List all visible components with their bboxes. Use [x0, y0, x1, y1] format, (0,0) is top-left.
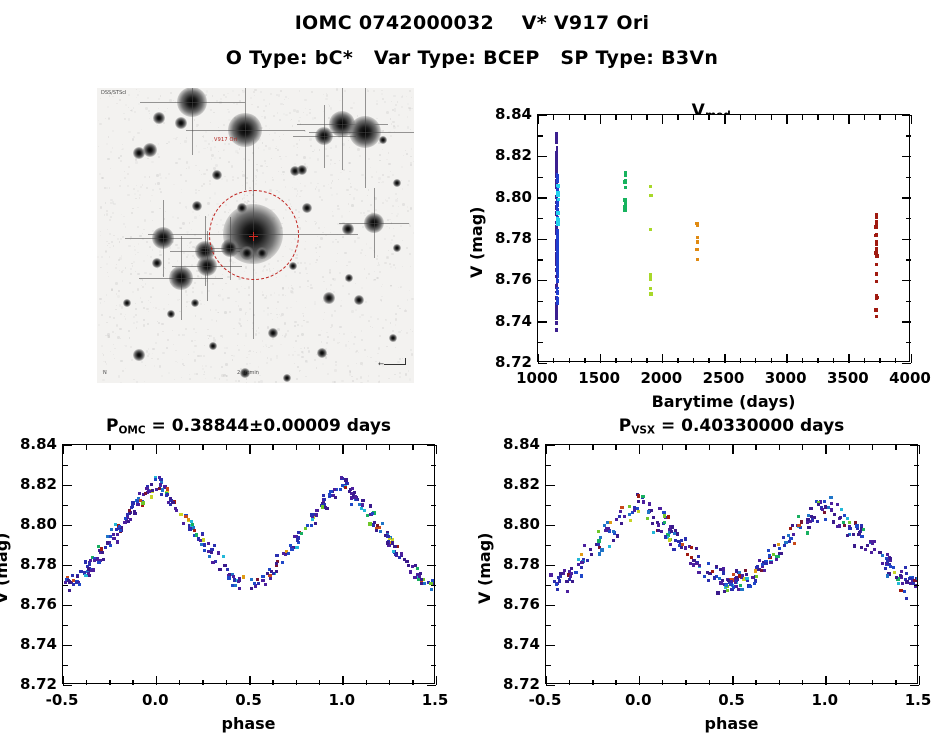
sky-noise — [304, 99, 306, 101]
sky-noise — [361, 200, 363, 202]
x-minor-tick — [132, 680, 133, 685]
sky-noise — [325, 148, 327, 150]
data-point — [908, 577, 911, 580]
sky-noise — [131, 359, 133, 361]
sky-noise — [367, 90, 369, 92]
data-points-layer — [63, 445, 434, 683]
sky-noise — [304, 185, 305, 186]
scalebar-tick — [405, 358, 406, 365]
sky-noise — [297, 366, 299, 368]
sky-noise — [326, 155, 328, 157]
data-point — [568, 578, 571, 581]
sky-noise — [182, 363, 184, 365]
sky-noise — [226, 379, 228, 381]
sky-noise — [146, 187, 148, 189]
sky-noise — [359, 155, 361, 157]
x-tick — [732, 676, 734, 685]
sky-noise — [186, 256, 188, 258]
y-tick — [546, 525, 555, 527]
sky-noise — [100, 231, 101, 232]
field-star — [133, 349, 145, 361]
sky-noise — [376, 258, 378, 260]
sky-noise — [141, 361, 143, 363]
sky-noise — [378, 347, 380, 349]
sky-noise — [195, 332, 197, 334]
sky-noise — [249, 308, 251, 310]
sky-noise — [115, 282, 117, 284]
sky-noise — [122, 280, 124, 282]
sky-noise — [254, 381, 256, 383]
sky-noise — [369, 247, 371, 249]
data-point — [782, 536, 785, 539]
sky-noise — [330, 187, 332, 189]
x-minor-tick — [872, 445, 873, 450]
sky-noise — [337, 205, 339, 207]
data-point — [737, 588, 740, 591]
sky-noise — [297, 179, 298, 180]
sky-noise — [198, 151, 200, 153]
data-point — [789, 527, 792, 530]
y-axis-label: V (mag) — [467, 207, 486, 279]
data-point — [722, 567, 725, 570]
field-star — [389, 334, 397, 342]
sky-noise — [149, 246, 151, 248]
sky-noise — [147, 323, 149, 325]
sky-noise — [175, 138, 176, 139]
sky-noise — [379, 380, 380, 381]
sky-noise — [245, 313, 247, 315]
sky-noise — [224, 352, 226, 354]
y-tick-label: 8.84 — [495, 435, 540, 453]
x-tick-label: 0.0 — [115, 691, 195, 709]
sky-noise — [216, 203, 218, 205]
sky-noise — [390, 171, 391, 172]
sky-noise — [98, 120, 99, 121]
data-point — [160, 493, 163, 496]
sky-noise — [118, 157, 119, 158]
data-point — [838, 524, 841, 527]
sky-noise — [200, 318, 202, 320]
scalebar-bar — [384, 364, 406, 365]
sky-noise — [350, 186, 353, 189]
sky-noise — [295, 209, 297, 211]
sky-noise — [282, 335, 283, 336]
data-point — [293, 535, 296, 538]
sky-noise — [395, 193, 397, 195]
sky-noise — [319, 246, 321, 248]
sky-noise — [110, 202, 112, 204]
data-point — [87, 567, 90, 570]
y-tick-label: 8.82 — [495, 475, 540, 493]
x-minor-tick — [755, 680, 756, 685]
sky-noise — [332, 215, 334, 217]
data-point — [234, 584, 237, 587]
data-point — [899, 589, 902, 592]
sky-noise — [110, 351, 111, 352]
sky-noise — [143, 307, 145, 309]
x-tick — [919, 445, 921, 454]
data-point — [848, 527, 851, 530]
sky-noise — [293, 176, 295, 178]
sky-noise — [370, 326, 371, 327]
data-point — [420, 578, 423, 581]
sky-noise — [410, 129, 411, 130]
sky-noise — [258, 147, 260, 149]
sky-noise — [175, 162, 177, 164]
sky-noise — [386, 159, 388, 161]
sky-noise — [314, 301, 316, 303]
y-tick — [538, 239, 547, 241]
data-point — [649, 277, 653, 281]
y-tick — [427, 605, 436, 607]
sky-noise — [320, 237, 322, 239]
sky-noise — [270, 358, 272, 360]
sky-noise — [301, 325, 303, 327]
sky-noise — [411, 298, 413, 300]
sky-noise — [340, 172, 342, 174]
sky-noise — [270, 93, 272, 95]
sky-noise — [353, 197, 355, 199]
x-minor-tick — [779, 445, 780, 450]
sky-noise — [328, 184, 329, 185]
sky-noise — [106, 263, 108, 265]
data-point — [874, 308, 878, 312]
sky-noise — [405, 150, 406, 151]
sky-noise — [378, 264, 380, 266]
y-tick-label: 8.76 — [495, 595, 540, 613]
sky-noise — [109, 247, 111, 249]
data-point — [677, 540, 680, 543]
x-tick — [911, 354, 913, 363]
sky-noise — [410, 266, 411, 267]
sky-noise — [183, 252, 185, 254]
sky-noise — [110, 199, 112, 201]
data-point — [386, 541, 389, 544]
data-point — [76, 575, 79, 578]
sky-noise — [406, 153, 408, 155]
data-point — [210, 551, 213, 554]
sky-noise — [224, 347, 226, 349]
data-point — [597, 543, 600, 546]
data-point — [261, 579, 264, 582]
sky-noise — [297, 262, 299, 264]
sky-noise — [292, 354, 295, 357]
sky-noise — [379, 335, 381, 337]
sky-noise — [116, 103, 117, 104]
sky-noise — [194, 345, 196, 347]
data-point — [257, 582, 260, 585]
sky-noise — [293, 145, 295, 147]
data-point — [394, 553, 397, 556]
data-point — [366, 514, 369, 517]
data-point — [684, 537, 687, 540]
x-minor-tick — [709, 680, 710, 685]
sky-noise — [368, 189, 369, 190]
sky-noise — [326, 93, 327, 94]
sky-noise — [405, 373, 408, 376]
y-minor-tick — [546, 665, 551, 666]
x-minor-tick — [693, 115, 694, 120]
y-tick — [538, 363, 547, 365]
y-tick — [546, 605, 555, 607]
sky-noise — [181, 192, 182, 193]
sky-noise — [163, 122, 165, 124]
data-point — [875, 272, 879, 276]
x-tick-label: 1.0 — [302, 691, 382, 709]
sky-noise — [196, 145, 197, 146]
data-point — [674, 529, 677, 532]
sky-noise — [330, 289, 331, 290]
sky-noise — [398, 114, 400, 116]
sky-noise — [305, 307, 307, 309]
sky-noise — [268, 347, 269, 348]
data-point — [354, 495, 357, 498]
sky-noise — [175, 350, 176, 351]
sky-noise — [300, 190, 302, 192]
data-point — [104, 546, 107, 549]
sky-noise — [318, 189, 320, 191]
sky-noise — [214, 192, 216, 194]
y-minor-tick — [63, 665, 68, 666]
sky-noise — [265, 344, 267, 346]
data-point — [187, 518, 190, 521]
sky-noise — [136, 97, 137, 98]
sky-noise — [143, 260, 145, 262]
sky-noise — [375, 209, 377, 211]
sky-noise — [280, 103, 282, 105]
sky-noise — [237, 333, 239, 335]
data-point — [556, 254, 559, 257]
x-tick — [538, 115, 540, 124]
sky-noise — [283, 104, 284, 105]
sky-noise — [407, 103, 409, 105]
sky-noise — [138, 243, 139, 244]
sky-noise — [136, 89, 137, 90]
sky-noise — [166, 143, 167, 144]
sky-noise — [246, 182, 248, 184]
sky-noise — [295, 257, 298, 260]
data-point — [807, 526, 810, 529]
sky-noise — [353, 102, 355, 104]
y-tick — [546, 565, 555, 567]
sky-noise — [325, 235, 326, 236]
data-point — [649, 194, 653, 198]
sky-noise — [289, 112, 291, 114]
sky-noise — [276, 146, 277, 147]
data-point — [612, 530, 615, 533]
x-minor-tick — [802, 115, 803, 120]
data-point — [657, 523, 660, 526]
sky-noise — [312, 151, 313, 152]
sky-noise — [125, 345, 127, 347]
data-point — [217, 551, 220, 554]
data-point — [727, 579, 730, 582]
y-tick — [427, 645, 436, 647]
sky-noise — [257, 171, 258, 172]
sky-noise — [305, 267, 307, 269]
data-point — [649, 287, 653, 291]
data-point — [839, 516, 842, 519]
data-point — [672, 548, 675, 551]
sky-noise — [342, 143, 344, 145]
data-point — [755, 575, 758, 578]
sky-noise — [224, 176, 225, 177]
sky-noise — [284, 336, 286, 338]
sky-noise — [402, 203, 404, 205]
data-point — [637, 494, 640, 497]
sky-noise — [139, 91, 140, 92]
sky-noise — [208, 290, 210, 292]
data-point — [718, 577, 721, 580]
sky-noise — [280, 139, 281, 140]
sky-noise — [288, 199, 290, 201]
sky-noise — [194, 282, 196, 284]
sky-noise — [348, 293, 350, 295]
sky-noise — [377, 353, 379, 355]
data-point — [719, 568, 722, 571]
sky-noise — [209, 180, 211, 182]
sky-noise — [333, 137, 335, 139]
sky-noise — [349, 194, 351, 196]
y-tick — [427, 525, 436, 527]
sky-noise — [109, 219, 111, 221]
sky-noise — [316, 252, 317, 253]
sky-noise — [264, 116, 266, 118]
sky-noise — [183, 334, 185, 336]
sky-noise — [186, 161, 188, 163]
data-point — [350, 503, 353, 506]
data-point — [138, 492, 141, 495]
data-point — [875, 223, 879, 227]
sky-noise — [122, 370, 125, 373]
sky-noise — [133, 316, 135, 318]
sky-noise — [317, 158, 319, 160]
sky-noise — [246, 177, 248, 179]
x-minor-tick — [740, 115, 741, 120]
sky-noise — [411, 148, 412, 149]
sky-noise — [360, 212, 361, 213]
sky-noise — [406, 247, 408, 249]
x-tick — [919, 676, 921, 685]
x-minor-tick — [179, 445, 180, 450]
x-minor-tick — [553, 358, 554, 363]
x-tick — [600, 115, 602, 124]
sky-noise — [306, 114, 308, 116]
sky-noise — [122, 270, 124, 272]
sky-noise — [152, 353, 154, 355]
y-tick-label: 8.76 — [487, 270, 532, 288]
sky-noise — [332, 278, 334, 280]
sky-noise — [350, 183, 352, 185]
sky-noise — [197, 355, 200, 358]
sky-noise — [116, 264, 117, 265]
data-point — [144, 492, 147, 495]
data-point — [703, 575, 706, 578]
sky-noise — [121, 306, 124, 309]
sky-noise — [376, 100, 378, 102]
sky-noise — [189, 242, 191, 244]
sky-noise — [211, 319, 213, 321]
data-point — [163, 485, 166, 488]
sky-noise — [113, 317, 115, 319]
sky-noise — [294, 163, 296, 165]
sky-noise — [225, 363, 227, 365]
data-point — [557, 576, 560, 579]
sky-noise — [164, 218, 166, 220]
data-point — [641, 495, 644, 498]
sky-noise — [151, 195, 153, 197]
sky-noise — [395, 267, 397, 269]
sky-noise — [122, 148, 124, 150]
sky-noise — [182, 359, 183, 360]
data-point — [624, 171, 628, 175]
sky-noise — [108, 136, 110, 138]
x-tick-label: 4000 — [870, 369, 944, 387]
sky-noise — [297, 354, 299, 356]
field-star — [268, 328, 278, 338]
sky-noise — [188, 354, 189, 355]
data-point — [797, 524, 800, 527]
sky-noise — [101, 345, 103, 347]
sky-noise — [402, 358, 403, 359]
sky-noise — [192, 291, 194, 293]
data-point — [266, 572, 269, 575]
sky-noise — [137, 207, 138, 208]
sky-noise — [235, 380, 237, 382]
field-star — [354, 295, 364, 305]
sky-noise — [263, 149, 265, 151]
diffraction-spike — [374, 188, 375, 258]
sky-noise — [128, 131, 131, 134]
sky-noise — [318, 334, 321, 337]
sky-noise — [187, 245, 188, 246]
data-point — [597, 530, 600, 533]
sky-noise — [310, 182, 312, 184]
y-minor-tick — [906, 301, 911, 302]
sky-noise — [262, 294, 264, 296]
sky-noise — [164, 111, 166, 113]
sky-noise — [330, 147, 332, 149]
sky-noise — [297, 324, 299, 326]
sky-noise — [399, 376, 401, 378]
sky-noise — [189, 222, 190, 223]
data-point — [793, 542, 796, 545]
data-point — [129, 518, 132, 521]
sky-noise — [103, 354, 104, 355]
sky-noise — [119, 328, 121, 330]
data-point — [556, 156, 559, 159]
sky-noise — [374, 271, 375, 272]
sky-noise — [391, 213, 392, 214]
data-point — [124, 517, 127, 520]
sky-noise — [137, 252, 138, 253]
sky-noise — [177, 260, 179, 262]
sky-noise — [248, 286, 250, 288]
sky-noise — [331, 324, 333, 326]
y-minor-tick — [431, 505, 436, 506]
data-point — [840, 508, 843, 511]
sky-noise — [365, 255, 366, 256]
sky-noise — [278, 294, 280, 296]
diffraction-spike — [342, 88, 343, 170]
sky-noise — [378, 177, 380, 179]
sky-noise — [389, 219, 391, 221]
sky-noise — [284, 99, 285, 100]
sky-noise — [151, 358, 152, 359]
sky-noise — [204, 345, 205, 346]
y-tick — [902, 197, 911, 199]
sky-noise — [281, 167, 283, 169]
